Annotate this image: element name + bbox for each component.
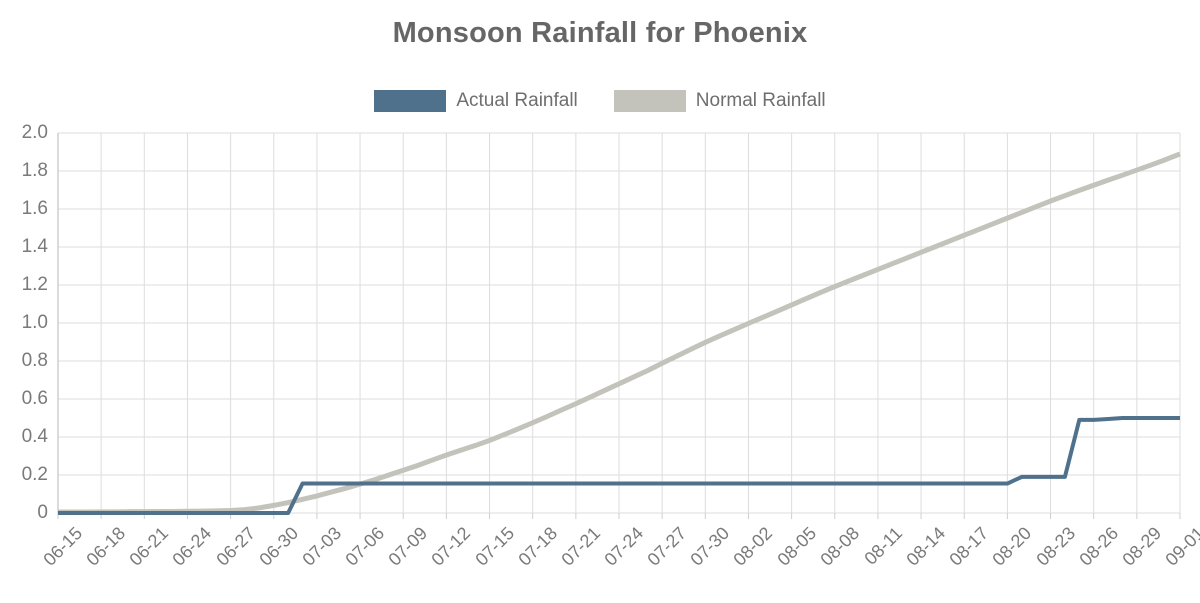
x-tick-label: 06-21	[126, 523, 173, 570]
x-tick-label: 08-14	[903, 523, 950, 570]
y-axis: 00.20.40.60.81.01.21.41.61.82.0	[0, 133, 48, 513]
legend-swatch-actual-rainfall	[374, 90, 446, 112]
y-tick-label: 0.2	[22, 464, 48, 486]
plot-area	[58, 133, 1180, 513]
x-tick-label: 07-30	[687, 523, 734, 570]
x-axis: 06-1506-1806-2106-2406-2706-3007-0307-06…	[58, 513, 1180, 603]
chart-title: Monsoon Rainfall for Phoenix	[0, 17, 1200, 50]
legend-item-actual-rainfall[interactable]: Actual Rainfall	[374, 90, 577, 112]
x-tick-label: 08-08	[816, 523, 863, 570]
y-tick-label: 2.0	[22, 122, 48, 144]
y-tick-label: 0.4	[22, 426, 48, 448]
y-tick-label: 1.8	[22, 160, 48, 182]
x-tick-label: 07-06	[342, 523, 389, 570]
x-tick-label: 07-09	[385, 523, 432, 570]
x-tick-label: 07-18	[514, 523, 561, 570]
x-tick-label: 08-20	[989, 523, 1036, 570]
x-tick-label: 06-30	[255, 523, 302, 570]
x-tick-label: 08-11	[860, 523, 906, 569]
y-tick-label: 1.6	[22, 198, 48, 220]
chart-container: Monsoon Rainfall for Phoenix Actual Rain…	[0, 0, 1200, 603]
x-tick-label: 07-27	[644, 523, 691, 570]
y-tick-label: 0.6	[22, 388, 48, 410]
x-tick-label: 06-27	[212, 523, 259, 570]
x-tick-label: 07-24	[600, 523, 647, 570]
legend-swatch-normal-rainfall	[614, 90, 686, 112]
grid-lines	[58, 133, 1180, 519]
x-tick-label: 08-05	[773, 523, 820, 570]
x-tick-label: 06-24	[169, 523, 216, 570]
plot-svg	[58, 133, 1180, 513]
x-tick-label: 06-15	[39, 523, 86, 570]
chart-legend: Actual Rainfall Normal Rainfall	[0, 90, 1200, 112]
y-tick-label: 0	[37, 502, 48, 524]
y-tick-label: 1.2	[22, 274, 48, 296]
legend-label-actual-rainfall: Actual Rainfall	[456, 90, 577, 112]
legend-item-normal-rainfall[interactable]: Normal Rainfall	[614, 90, 826, 112]
x-tick-label: 07-03	[298, 523, 345, 570]
x-tick-label: 08-23	[1032, 523, 1079, 570]
x-tick-label: 08-26	[1075, 523, 1122, 570]
x-tick-label: 08-29	[1118, 523, 1165, 570]
x-tick-label: 07-12	[428, 523, 475, 570]
x-tick-label: 07-15	[471, 523, 518, 570]
x-tick-label: 09-01	[1161, 523, 1200, 570]
x-tick-label: 06-18	[83, 523, 130, 570]
x-tick-label: 08-17	[946, 523, 993, 570]
x-tick-label: 08-02	[730, 523, 777, 570]
y-tick-label: 1.0	[22, 312, 48, 334]
x-tick-label: 07-21	[557, 523, 604, 570]
legend-label-normal-rainfall: Normal Rainfall	[696, 90, 826, 112]
y-tick-label: 1.4	[22, 236, 48, 258]
y-tick-label: 0.8	[22, 350, 48, 372]
